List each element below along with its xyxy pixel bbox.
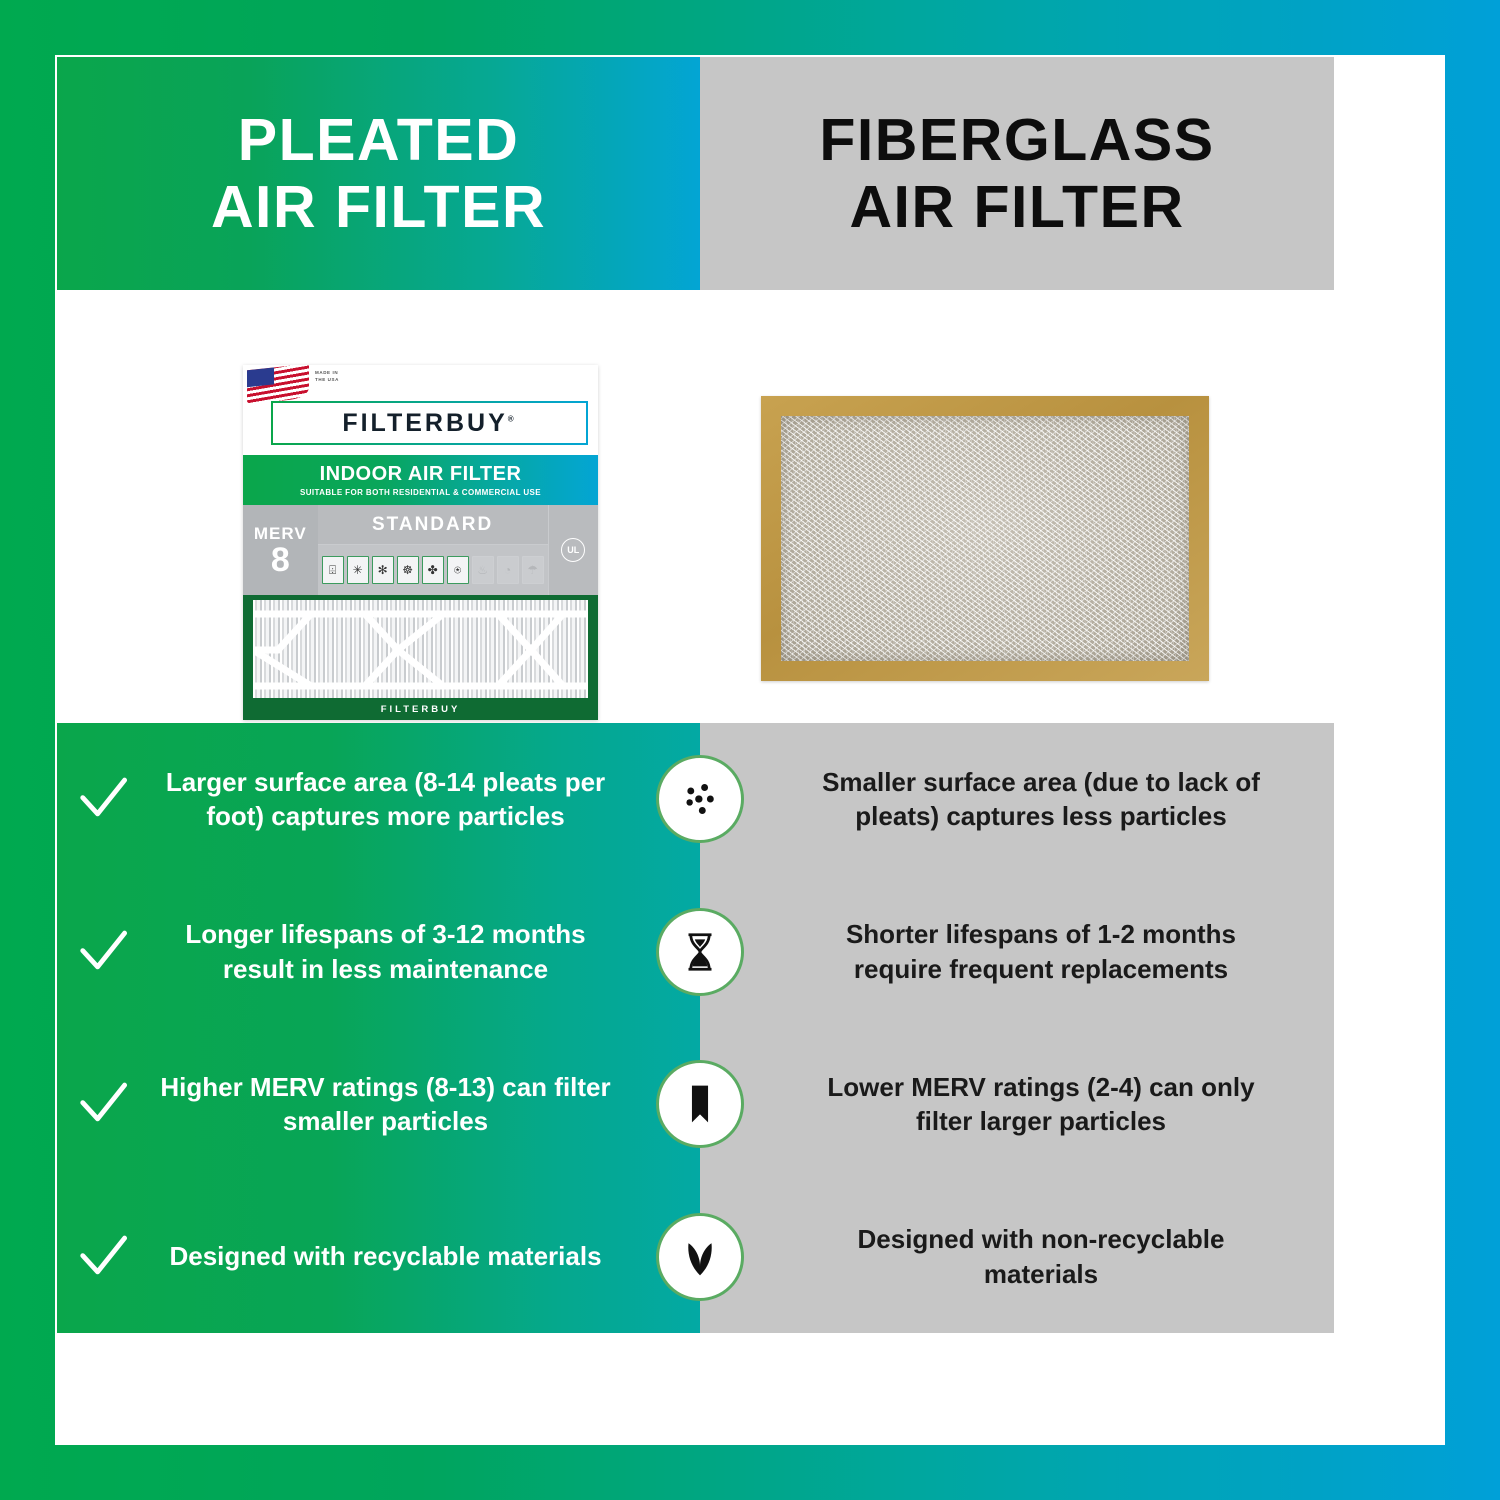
fiberglass-media bbox=[781, 416, 1189, 661]
feature-pleated-cell: Designed with recyclable materials bbox=[57, 1181, 700, 1334]
pollen-icon: ✻ bbox=[372, 556, 394, 584]
pleat-lattice-icon bbox=[253, 600, 588, 700]
virus-icon: ☂ bbox=[522, 556, 544, 584]
bacteria-icon: ✤ bbox=[422, 556, 444, 584]
made-in-usa-line1: MADE IN bbox=[315, 370, 339, 377]
odors-icon: ◔ bbox=[497, 556, 519, 584]
feature-fiberglass-cell: Smaller surface area (due to lack of ple… bbox=[700, 723, 1334, 876]
header-fiberglass: FIBERGLASS AIR FILTER bbox=[700, 57, 1334, 290]
merv-value: 8 bbox=[271, 544, 290, 576]
box-banner: INDOOR AIR FILTER SUITABLE FOR BOTH RESI… bbox=[243, 455, 598, 505]
capability-icon-strip: ⌹✳✻☸✤⍟♨◔☂ bbox=[318, 545, 548, 595]
check-icon bbox=[57, 1077, 149, 1131]
bookmark-ribbon-icon bbox=[656, 1060, 744, 1148]
filterbuy-logo-text: FILTERBUY® bbox=[342, 409, 516, 438]
smoke-icon: ♨ bbox=[472, 556, 494, 584]
feature-comparison-band: Larger surface area (8-14 pleats per foo… bbox=[57, 723, 1334, 1333]
dust-mites-icon: ✳ bbox=[347, 556, 369, 584]
usa-flag-icon bbox=[247, 365, 309, 404]
feature-fiberglass-text: Shorter lifespans of 1-2 months require … bbox=[810, 917, 1272, 986]
made-in-usa-label: MADE IN THE USA bbox=[315, 370, 339, 384]
feature-row: Larger surface area (8-14 pleats per foo… bbox=[57, 723, 1334, 876]
mold-icon: ☸ bbox=[397, 556, 419, 584]
box-banner-title: INDOOR AIR FILTER bbox=[243, 463, 598, 486]
feature-row: Higher MERV ratings (8-13) can filter sm… bbox=[57, 1028, 1334, 1181]
check-icon bbox=[57, 1230, 149, 1284]
grade-column: STANDARD ⌹✳✻☸✤⍟♨◔☂ bbox=[318, 505, 548, 595]
feature-pleated-cell: Larger surface area (8-14 pleats per foo… bbox=[57, 723, 700, 876]
feature-fiberglass-text: Designed with non-recyclable materials bbox=[810, 1222, 1272, 1291]
feature-fiberglass-text: Lower MERV ratings (2-4) can only filter… bbox=[810, 1070, 1272, 1139]
header-pleated-line2: AIR FILTER bbox=[211, 174, 546, 240]
box-banner-subtitle: SUITABLE FOR BOTH RESIDENTIAL & COMMERCI… bbox=[243, 488, 598, 497]
feature-row: Longer lifespans of 3-12 months result i… bbox=[57, 876, 1334, 1029]
header-pleated: PLEATED AIR FILTER bbox=[57, 57, 700, 290]
header-band: PLEATED AIR FILTER FIBERGLASS AIR FILTER bbox=[57, 57, 1334, 290]
feature-pleated-cell: Longer lifespans of 3-12 months result i… bbox=[57, 876, 700, 1029]
fiberglass-product-cell bbox=[700, 290, 1334, 723]
feature-pleated-text: Higher MERV ratings (8-13) can filter sm… bbox=[149, 1070, 700, 1139]
dust-lint-icon: ⌹ bbox=[322, 556, 344, 584]
feature-pleated-text: Designed with recyclable materials bbox=[149, 1239, 700, 1274]
check-icon bbox=[57, 772, 149, 826]
fiberglass-filter-image bbox=[761, 396, 1209, 681]
merv-badge: MERV 8 bbox=[243, 505, 318, 595]
filterbuy-box-image: MADE IN THE USA FILTERBUY® INDOOR AIR FI… bbox=[243, 365, 598, 720]
box-pleat-window: FILTERBUY bbox=[243, 595, 598, 720]
feature-pleated-text: Larger surface area (8-14 pleats per foo… bbox=[149, 765, 700, 834]
box-footer-brand: FILTERBUY bbox=[243, 704, 598, 715]
feature-fiberglass-cell: Designed with non-recyclable materials bbox=[700, 1181, 1334, 1334]
particles-icon bbox=[656, 755, 744, 843]
ul-certification-cell: UL bbox=[548, 505, 598, 595]
pet-dander-icon: ⍟ bbox=[447, 556, 469, 584]
grade-label: STANDARD bbox=[372, 514, 493, 536]
check-icon bbox=[57, 925, 149, 979]
hourglass-icon bbox=[656, 908, 744, 996]
feature-pleated-cell: Higher MERV ratings (8-13) can filter sm… bbox=[57, 1028, 700, 1181]
box-top-section: MADE IN THE USA FILTERBUY® bbox=[243, 365, 598, 455]
product-image-row: MADE IN THE USA FILTERBUY® INDOOR AIR FI… bbox=[57, 290, 1334, 723]
feature-fiberglass-cell: Shorter lifespans of 1-2 months require … bbox=[700, 876, 1334, 1029]
grade-row: STANDARD bbox=[318, 505, 548, 545]
header-fiberglass-line2: AIR FILTER bbox=[849, 174, 1184, 240]
pleated-product-cell: MADE IN THE USA FILTERBUY® INDOOR AIR FI… bbox=[57, 290, 700, 723]
ul-mark-icon: UL bbox=[561, 538, 585, 562]
leaf-sprout-icon bbox=[656, 1213, 744, 1301]
box-spec-section: MERV 8 STANDARD ⌹✳✻☸✤⍟♨◔☂ UL bbox=[243, 505, 598, 595]
feature-fiberglass-cell: Lower MERV ratings (2-4) can only filter… bbox=[700, 1028, 1334, 1181]
feature-fiberglass-text: Smaller surface area (due to lack of ple… bbox=[810, 765, 1272, 834]
feature-row: Designed with recyclable materialsDesign… bbox=[57, 1181, 1334, 1334]
header-pleated-line1: PLEATED bbox=[238, 107, 519, 173]
feature-pleated-text: Longer lifespans of 3-12 months result i… bbox=[149, 917, 700, 986]
header-fiberglass-line1: FIBERGLASS bbox=[819, 107, 1214, 173]
filterbuy-logo: FILTERBUY® bbox=[271, 401, 588, 445]
made-in-usa-line2: THE USA bbox=[315, 377, 339, 384]
